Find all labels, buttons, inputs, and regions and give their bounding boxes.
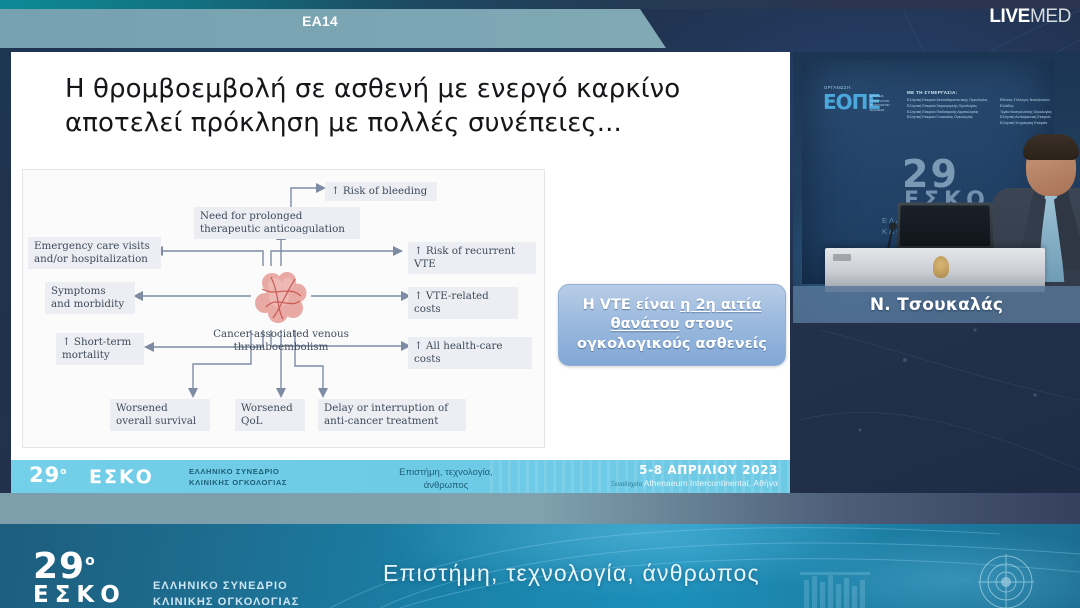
footer-emblem-icon [974,550,1038,608]
slide-footer-subtitle: ΕΛΛΗΝΙΚΟ ΣΥΝΕΔΡΙΟ ΚΛΙΝΙΚΗΣ ΟΓΚΟΛΟΓΙΑΣ [189,466,287,488]
laptop [896,202,993,254]
lower-divider-band [0,493,1080,524]
backdrop-cooperation-title: ΜΕ ΤΗ ΣΥΝΕΡΓΑΣΙΑ: [907,90,957,95]
backdrop-cooperation-column-2: Εθνικός Σύλλογος Νοσηλευτών Ελλάδος Τομέ… [1000,98,1054,127]
tumor-illustration [255,269,307,323]
slide-footer-dates: 5-8 ΑΠΡΙΛΙΟΥ 2023 [639,463,778,477]
figure-hub-label: Cancer-associated venous thromboembolism [191,328,371,355]
figure-node-worsened-qol: Worsened QoL [235,399,305,431]
speaker-name-bar: Ν. Τσουκαλάς [793,286,1080,323]
figure-cancer-associated-vte: Cancer-associated venous thromboembolism… [22,169,545,448]
slide-conference-bar: 29o ΕΣΚΟ ΕΛΛΗΝΙΚΟ ΣΥΝΕΔΡΙΟ ΚΛΙΝΙΚΗΣ ΟΓΚΟ… [11,460,790,493]
slide-title: Η θρομβοεμβολή σε ασθενή με ενεργό καρκί… [65,72,765,141]
speaker-hair [1023,134,1079,160]
livemed-logo-secondary: MED [1030,6,1071,27]
slide-footer-motto: Επιστήμη, τεχνολογία, άνθρωπος [356,466,536,493]
slide-footer-acronym: ΕΣΚΟ [89,466,154,488]
figure-node-vte-related-costs: ↑ VTE-related costs [408,287,518,319]
livemed-logo-primary: LIVE [989,6,1030,27]
video-player[interactable]: ΟΡΓΑΝΩΣΗ: ΕΟΠΕ ΕΤΑΙΡΕΙΑ ΟΓΚΟΛΟΓΩΝ ΠΑΘΟΛΟ… [793,52,1080,321]
figure-node-delay-anti-cancer-treatment: Delay or interruption of anti-cancer tre… [318,399,466,431]
footer-edition-number: 29o [33,546,96,587]
speaker-name: Ν. Τσουκαλάς [870,295,1003,315]
footer-acronym: ΕΣΚΟ [33,582,126,608]
backdrop-cooperation-column-1: Ελληνική Εταιρεία Ακτινοθεραπευτικής Ογκ… [907,98,988,121]
livemed-logo[interactable]: LIVEMED [989,6,1071,28]
figure-node-need-prolonged-anticoagulation: Need for prolonged therapeutic anticoagu… [194,207,360,239]
backdrop-organizer-full: ΕΤΑΙΡΕΙΑ ΟΓΚΟΛΟΓΩΝ ΠΑΘΟΛΟΓΩΝ ΕΛΛΑΔΑΣ [870,94,890,113]
figure-node-emergency-care-visits: Emergency care visits and/or hospitaliza… [28,237,161,269]
figure-node-risk-of-bleeding: ↑ Risk of bleeding [325,182,437,201]
figure-node-short-term-mortality: ↑ Short-term mortality [56,333,144,365]
footer-subtitle: ΕΛΛΗΝΙΚΟ ΣΥΝΕΔΡΙΟ ΚΛΙΝΙΚΗΣ ΟΓΚΟΛΟΓΙΑΣ [153,579,299,608]
slide-footer-venue: Ξενοδοχείο Athenaeum Intercontinental, Α… [611,478,778,488]
footer-skyline [800,562,920,608]
vte-callout-box: Η VTE είναι η 2η αιτία θανάτου στους ογκ… [558,284,786,366]
callout-line2-plain: στους [679,316,733,332]
session-code-label: EA14 [0,13,640,29]
top-accent-bar [0,0,1080,9]
slide-panel[interactable]: Η θρομβοεμβολή σε ασθενή με ενεργό καρκί… [11,52,790,493]
footer-motto: Επιστήμη, τεχνολογία, άνθρωπος [383,560,760,587]
callout-line2-underlined: θανάτου [611,316,680,332]
callout-line1-underlined: η 2η αιτία [680,297,761,313]
callout-line3: ογκολογικούς ασθενείς [577,336,767,352]
slide-footer-edition-number: 29o [29,463,67,487]
podium-emblem [933,256,949,278]
podium-label [833,254,851,261]
figure-node-risk-of-recurrent-vte: ↑ Risk of recurrent VTE [408,242,536,274]
video-scene: ΟΡΓΑΝΩΣΗ: ΕΟΠΕ ΕΤΑΙΡΕΙΑ ΟΓΚΟΛΟΓΩΝ ΠΑΘΟΛΟ… [793,52,1080,321]
laptop-screen [900,205,991,246]
slide-footer-venue-prefix: Ξενοδοχείο [611,482,644,488]
figure-node-all-health-care-costs: ↑ All health-care costs [408,337,532,369]
vte-callout-text: Η VTE είναι η 2η αιτία θανάτου στους ογκ… [577,296,767,354]
app-root: EA14 LIVEMED Η θρομβοεμβολή σε ασθενή με… [0,0,1080,608]
figure-node-worsened-overall-survival: Worsened overall survival [110,399,210,431]
callout-line1-plain: Η VTE είναι [583,297,681,313]
figure-node-symptoms-and-morbidity: Symptoms and morbidity [45,282,135,314]
slide-footer-venue-name: Athenaeum Intercontinental, Αθήνα [644,478,778,488]
